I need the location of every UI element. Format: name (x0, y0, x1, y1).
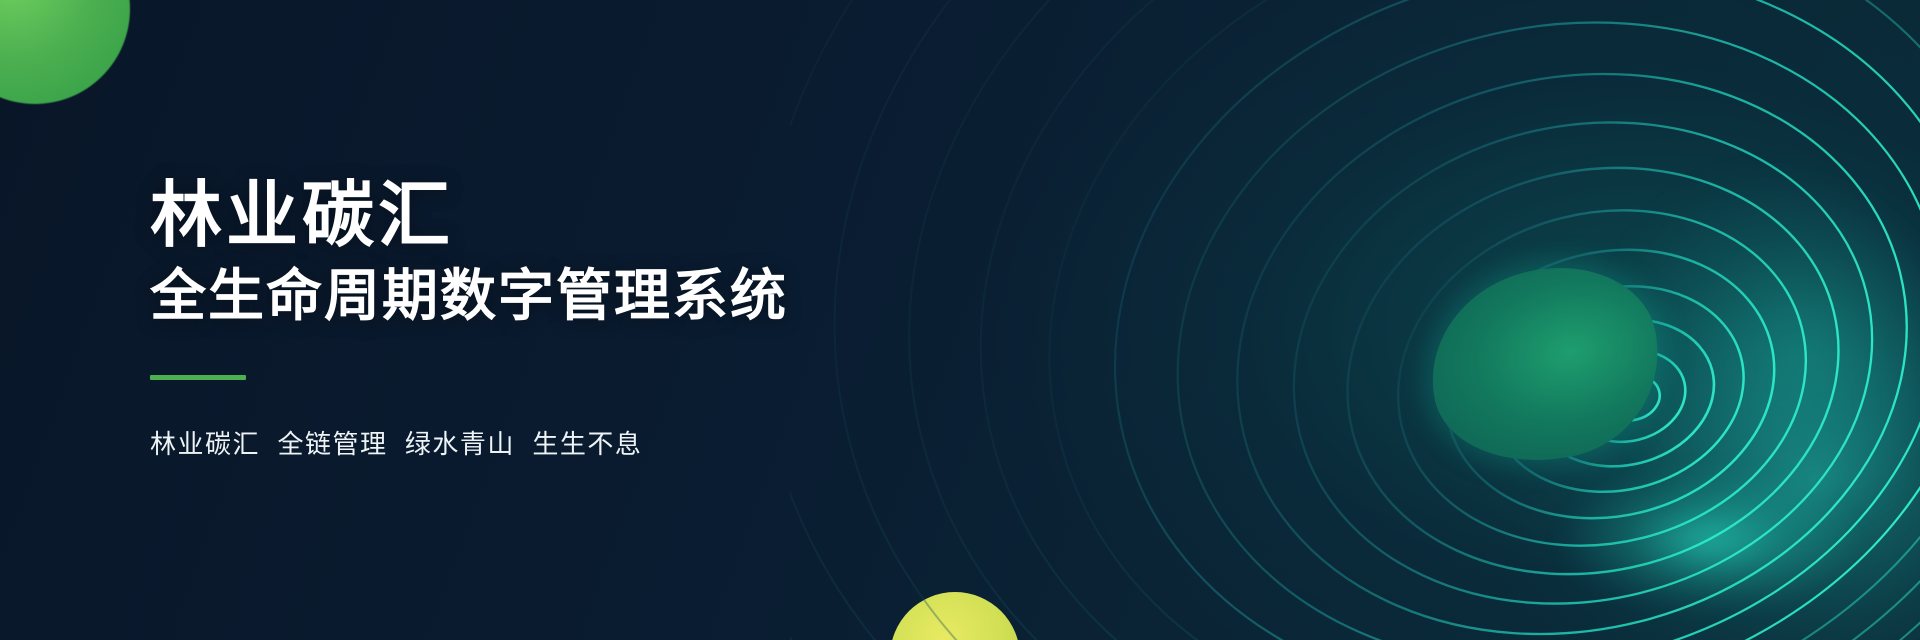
page-subtitle: 全生命周期数字管理系统 (150, 263, 788, 329)
banner-content: 林业碳汇 全生命周期数字管理系统 林业碳汇 全链管理 绿水青山 生生不息 (150, 0, 788, 640)
hero-banner: 林业碳汇 全生命周期数字管理系统 林业碳汇 全链管理 绿水青山 生生不息 (0, 0, 1920, 640)
banner-tagline: 林业碳汇 全链管理 绿水青山 生生不息 (150, 424, 788, 461)
page-title: 林业碳汇 (150, 179, 788, 255)
cyan-glow-core (1560, 470, 1860, 610)
green-circle-decoration (0, 0, 130, 104)
green-accent-divider (150, 375, 246, 380)
yellow-circle-decoration (890, 592, 1020, 640)
